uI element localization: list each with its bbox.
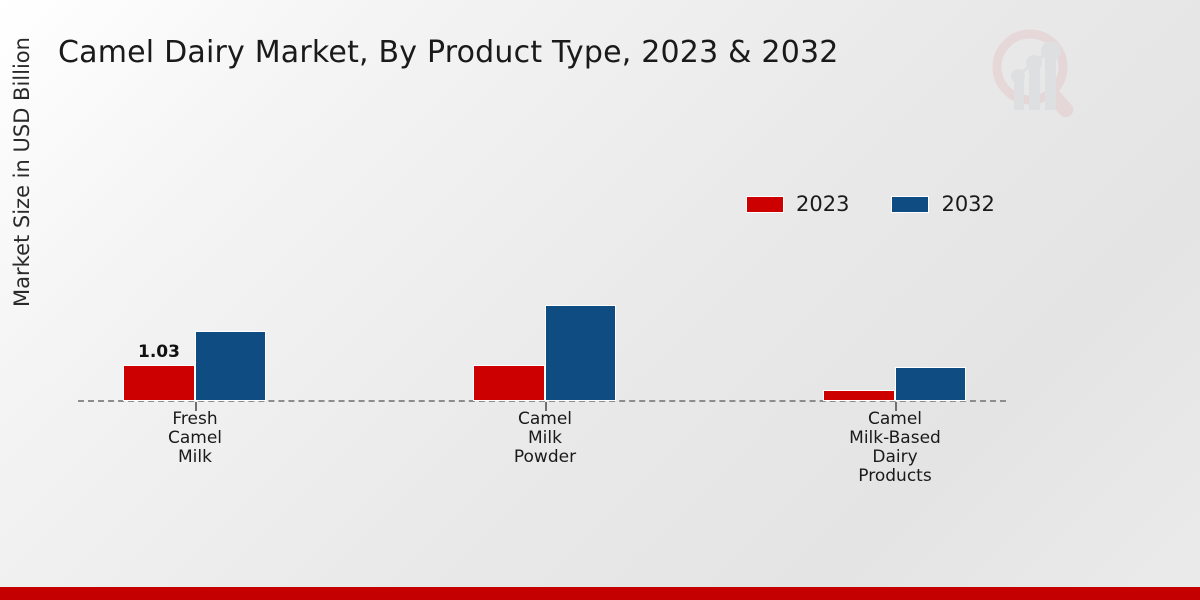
bar-2032-fresh-camel-milk[interactable] <box>195 331 266 401</box>
x-axis-label-line: Camel <box>425 410 665 429</box>
bar-group-camel-milk-powder <box>473 141 616 401</box>
x-axis-label-line: Camel <box>775 410 1015 429</box>
bar-2032-camel-milk-based-dairy-products[interactable] <box>895 367 966 401</box>
x-axis-label-line: Fresh <box>75 410 315 429</box>
x-axis-label-line: Milk-Based <box>775 429 1015 448</box>
bar-group-fresh-camel-milk: 1.03 <box>123 141 266 401</box>
footer-accent-bar <box>0 587 1200 600</box>
x-axis-label-fresh-camel-milk: Fresh Camel Milk <box>75 410 315 467</box>
x-axis-label-line: Milk <box>425 429 665 448</box>
x-axis-label-line: Camel <box>75 429 315 448</box>
x-axis-label-line: Dairy <box>775 448 1015 467</box>
bar-2023-camel-milk-powder[interactable] <box>473 365 545 401</box>
plot-area: 1.03 Fresh Camel Milk Camel Milk Powder <box>0 0 1200 600</box>
bar-2032-camel-milk-powder[interactable] <box>545 305 616 401</box>
x-axis-label-line: Products <box>775 467 1015 486</box>
x-axis-label-camel-milk-powder: Camel Milk Powder <box>425 410 665 467</box>
bar-value-label: 1.03 <box>138 342 180 362</box>
bar-group-camel-milk-based-dairy-products <box>823 141 966 401</box>
bar-2023-fresh-camel-milk[interactable]: 1.03 <box>123 365 195 401</box>
x-axis-label-camel-milk-based-dairy-products: Camel Milk-Based Dairy Products <box>775 410 1015 486</box>
chart-canvas: Camel Dairy Market, By Product Type, 202… <box>0 0 1200 600</box>
x-axis-label-line: Milk <box>75 448 315 467</box>
x-axis-label-line: Powder <box>425 448 665 467</box>
bar-2023-camel-milk-based-dairy-products[interactable] <box>823 390 895 401</box>
